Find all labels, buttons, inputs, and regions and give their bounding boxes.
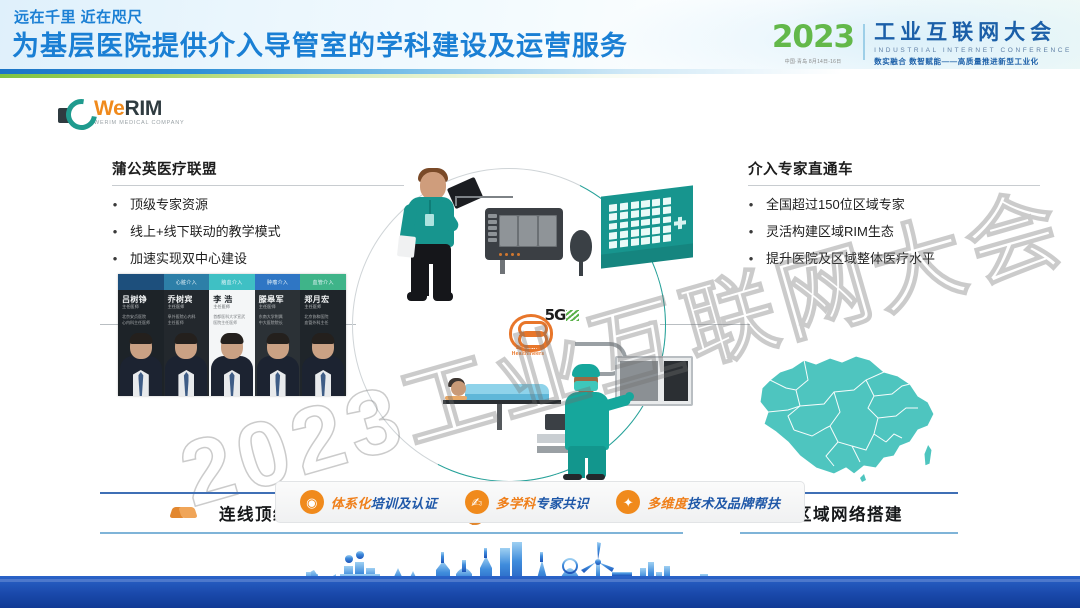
page-title: 为基层医院提供介入导管室的学科建设及运营服务: [12, 24, 628, 63]
footer-sea-highlight: [0, 579, 1080, 582]
list-item: •顶级专家资源: [112, 197, 404, 213]
expert-category-tab: 心脏介入: [164, 274, 210, 290]
bullet-dot-icon: •: [748, 251, 754, 266]
conference-tagline: 数实融合 数智赋能——高质量推进新型工业化: [874, 56, 1072, 67]
siemens-healthineers-logo: SIEMENS Healthineers: [505, 314, 551, 360]
avatar: [210, 334, 254, 396]
expert-card[interactable]: 吕树铮主任医师北京安贞医院心内科主任医师: [118, 274, 164, 396]
bullet-dot-icon: •: [112, 224, 118, 239]
bullet-dot-icon: •: [748, 197, 754, 212]
panel-alliance-divider: [112, 185, 404, 186]
footer-skyline: [0, 528, 1080, 608]
conference-logo: 2023 中国·青岛 8月14日-16日 工业互联网大会 INDUSTRIAL …: [772, 22, 1072, 74]
expert-card[interactable]: 血管介入郑月宏主任医师北京协和医院血管外科主任: [300, 274, 346, 396]
conference-name-cn: 工业互联网大会: [874, 22, 1072, 44]
bullet-text: 顶级专家资源: [130, 197, 208, 213]
surgery-scene-illustration: [425, 356, 675, 484]
slide-root: 远在千里 近在咫尺 为基层医院提供介入导管室的学科建设及运营服务 2023 中国…: [0, 0, 1080, 608]
expert-category-tab: 肿瘤介入: [255, 274, 301, 290]
werim-mark-icon: [58, 99, 88, 125]
bullet-dot-icon: •: [112, 197, 118, 212]
expert-card[interactable]: 肿瘤介入滕皋军主任医师东南大学附属中大医院院长: [255, 274, 301, 396]
expert-role: 主任医师: [304, 304, 321, 310]
panel-expert-title: 介入专家直通车: [748, 158, 1040, 179]
expert-description: 阜外医院心内科主任医师: [168, 314, 206, 326]
conference-year: 2023: [772, 22, 854, 53]
panel-expert-bullets: •全国超过150位区域专家 •灵活构建区域RIM生态 •提升医院及区域整体医疗水…: [748, 197, 1040, 267]
panel-alliance-bullets: •顶级专家资源 •线上+线下联动的教学模式 •加速实现双中心建设: [112, 197, 404, 267]
monitor-arm: [455, 196, 513, 198]
tree-illustration: [570, 230, 592, 276]
expert-role: 主任医师: [168, 304, 185, 310]
slide-body: WeRIM WERIM MEDICAL COMPANY: [0, 78, 1080, 528]
werim-name-rim: RIM: [125, 97, 163, 120]
service-pillar-item[interactable]: ✦多维度技术及品牌帮扶: [616, 490, 780, 514]
service-pillar-item[interactable]: ◉体系化培训及认证: [300, 490, 437, 514]
service-pillar-text: 多学科专家共识: [496, 493, 589, 512]
bullet-text: 灵活构建区域RIM生态: [766, 224, 894, 240]
conference-date-location: 中国·青岛 8月14日-16日: [772, 58, 854, 65]
expert-role: 主任医师: [259, 304, 276, 310]
expert-category-tab: 血管介入: [300, 274, 346, 290]
service-pillar-text: 体系化培训及认证: [331, 493, 437, 512]
bullet-dot-icon: •: [112, 251, 118, 266]
expert-description: 北京安贞医院心内科主任医师: [122, 314, 160, 326]
handshake-icon: [171, 504, 197, 522]
avatar: [301, 334, 345, 396]
bullet-dot-icon: •: [748, 224, 754, 239]
panel-expert-express: 介入专家直通车 •全国超过150位区域专家 •灵活构建区域RIM生态 •提升医院…: [748, 158, 1040, 278]
support-icon: ✦: [616, 490, 640, 514]
hospital-cross-icon: [674, 216, 686, 229]
expert-description: 首都医科大学宣武医院主任医师: [213, 314, 251, 326]
werim-subtitle: WERIM MEDICAL COMPANY: [94, 121, 184, 127]
expert-category-tab: [118, 274, 164, 290]
service-pillars-bar: ◉体系化培训及认证✍多学科专家共识✦多维度技术及品牌帮扶: [275, 481, 805, 523]
avatar: [164, 334, 208, 396]
connector-line-right: [660, 324, 750, 325]
expert-card[interactable]: 脑血介入李 浩主任医师首都医科大学宣武医院主任医师: [209, 274, 255, 396]
consensus-icon: ✍: [465, 490, 489, 514]
bullet-text: 全国超过150位区域专家: [766, 197, 905, 213]
conference-logo-divider: [863, 24, 865, 60]
werim-name-we: We: [94, 97, 125, 120]
list-item: •线上+线下联动的教学模式: [112, 224, 404, 240]
bullet-text: 提升医院及区域整体医疗水平: [766, 251, 935, 267]
expert-role: 主任医师: [213, 304, 230, 310]
list-item: •全国超过150位区域专家: [748, 197, 1040, 213]
expert-role: 主任医师: [122, 304, 139, 310]
list-item: •加速实现双中心建设: [112, 251, 404, 267]
bullet-text: 线上+线下联动的教学模式: [130, 224, 281, 240]
surgeon-illustration: [557, 360, 617, 482]
avatar: [256, 334, 300, 396]
panel-alliance: 蒲公英医疗联盟 •顶级专家资源 •线上+线下联动的教学模式 •加速实现双中心建设: [112, 158, 404, 278]
china-map-illustration: [742, 346, 958, 488]
expert-photo-strip: 吕树铮主任医师北京安贞医院心内科主任医师心脏介入乔树宾主任医师阜外医院心内科主任…: [118, 274, 346, 396]
panel-alliance-title: 蒲公英医疗联盟: [112, 158, 404, 179]
expert-description: 东南大学附属中大医院院长: [259, 314, 297, 326]
monitor-arm-joint: [455, 196, 457, 206]
xray-monitor-illustration: [485, 208, 563, 260]
list-item: •灵活构建区域RIM生态: [748, 224, 1040, 240]
monitor-stand: [500, 260, 505, 274]
expert-description: 北京协和医院血管外科主任: [304, 314, 342, 326]
standing-doctor-illustration: [400, 164, 478, 304]
list-item: •提升医院及区域整体医疗水平: [748, 251, 1040, 267]
service-pillar-text: 多维度技术及品牌帮扶: [647, 493, 780, 512]
conference-name-en: INDUSTRIAL INTERNET CONFERENCE: [874, 47, 1072, 54]
hospital-building-illustration: [595, 191, 695, 277]
slide-header: 远在千里 近在咫尺 为基层医院提供介入导管室的学科建设及运营服务 2023 中国…: [0, 0, 1080, 76]
panel-expert-divider: [748, 185, 1040, 186]
feature-label-text: 区域网络搭建: [795, 501, 903, 525]
china-map-svg: [742, 346, 958, 488]
avatar: [119, 334, 163, 396]
bullet-text: 加速实现双中心建设: [130, 251, 247, 267]
expert-card[interactable]: 心脏介入乔树宾主任医师阜外医院心内科主任医师: [164, 274, 210, 396]
werim-logo: WeRIM WERIM MEDICAL COMPANY: [58, 98, 184, 127]
training-icon: ◉: [300, 490, 324, 514]
expert-category-tab: 脑血介入: [209, 274, 255, 290]
service-pillar-item[interactable]: ✍多学科专家共识: [465, 490, 589, 514]
